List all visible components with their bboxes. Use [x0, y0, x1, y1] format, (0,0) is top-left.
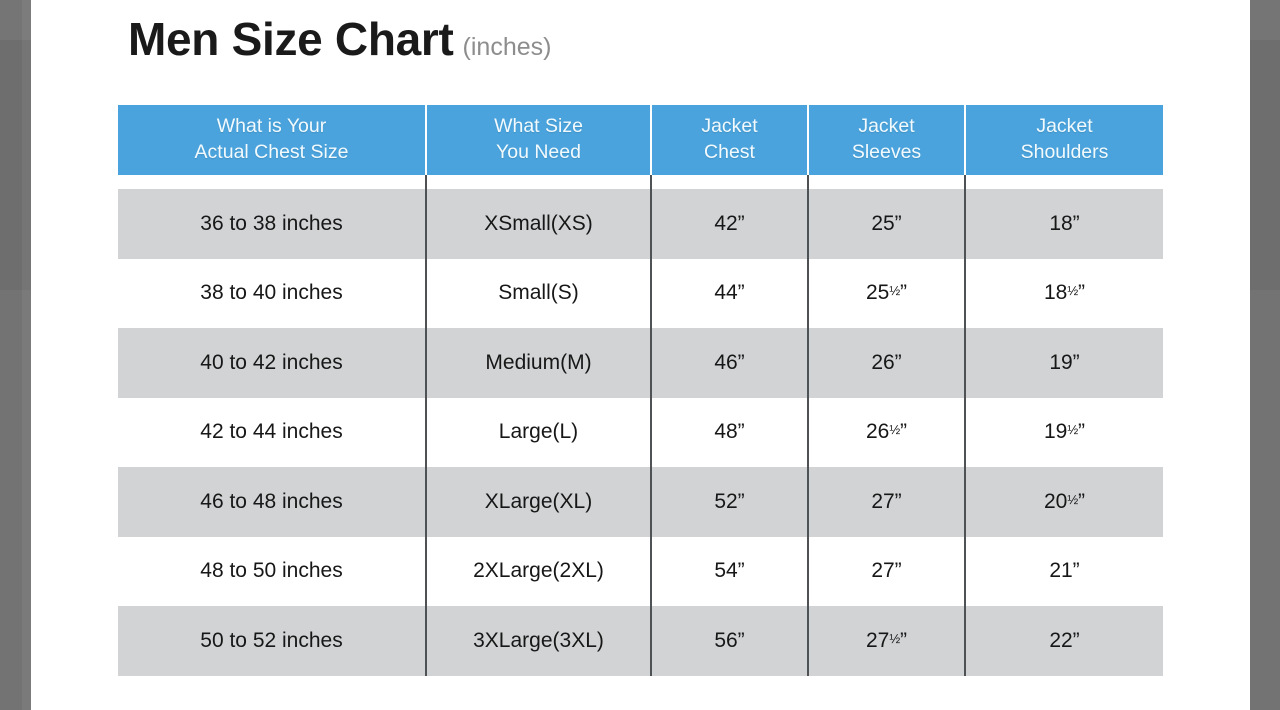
cell-jacket_sleeves: 27½” — [808, 606, 965, 676]
page-title-main: Men Size Chart — [128, 16, 454, 62]
slide-canvas: Men Size Chart (inches) What is YourActu… — [31, 0, 1250, 710]
page-title: Men Size Chart (inches) — [128, 16, 551, 62]
gap-cell — [808, 175, 965, 189]
cell-jacket_shoulders: 20½” — [965, 467, 1163, 537]
cell-chest_range: 50 to 52 inches — [118, 606, 426, 676]
cell-jacket_chest: 44” — [651, 259, 808, 329]
column-header-line1: Jacket — [656, 114, 803, 140]
cell-chest_range: 36 to 38 inches — [118, 189, 426, 259]
column-header-line2: You Need — [431, 140, 646, 166]
cell-jacket_shoulders: 19½” — [965, 398, 1163, 468]
column-header-line2: Actual Chest Size — [122, 140, 421, 166]
gap-cell — [651, 175, 808, 189]
cell-size: 2XLarge(2XL) — [426, 537, 651, 607]
table-row: 38 to 40 inchesSmall(S)44”25½”18½” — [118, 259, 1163, 329]
cell-jacket_chest: 56” — [651, 606, 808, 676]
column-header-4: JacketShoulders — [965, 105, 1163, 175]
column-header-line1: What Size — [431, 114, 646, 140]
cell-jacket_chest: 52” — [651, 467, 808, 537]
table-row: 42 to 44 inchesLarge(L)48”26½”19½” — [118, 398, 1163, 468]
letterbox-left — [0, 0, 31, 710]
table-header-gap — [118, 175, 1163, 189]
column-header-line2: Chest — [656, 140, 803, 166]
cell-chest_range: 48 to 50 inches — [118, 537, 426, 607]
column-header-line2: Sleeves — [813, 140, 960, 166]
cell-jacket_sleeves: 25” — [808, 189, 965, 259]
cell-jacket_sleeves: 27” — [808, 467, 965, 537]
cell-jacket_shoulders: 19” — [965, 328, 1163, 398]
cell-chest_range: 42 to 44 inches — [118, 398, 426, 468]
table-row: 50 to 52 inches3XLarge(3XL)56”27½”22” — [118, 606, 1163, 676]
table-body: 36 to 38 inchesXSmall(XS)42”25”18”38 to … — [118, 175, 1163, 676]
table-row: 40 to 42 inchesMedium(M)46”26”19” — [118, 328, 1163, 398]
table-header-row: What is YourActual Chest SizeWhat SizeYo… — [118, 105, 1163, 175]
table-row: 36 to 38 inchesXSmall(XS)42”25”18” — [118, 189, 1163, 259]
cell-jacket_shoulders: 22” — [965, 606, 1163, 676]
slide-viewport: Men Size Chart (inches) What is YourActu… — [0, 0, 1280, 710]
cell-jacket_chest: 46” — [651, 328, 808, 398]
column-header-1: What SizeYou Need — [426, 105, 651, 175]
cell-jacket_shoulders: 18” — [965, 189, 1163, 259]
cell-size: XSmall(XS) — [426, 189, 651, 259]
cell-jacket_chest: 48” — [651, 398, 808, 468]
cell-chest_range: 40 to 42 inches — [118, 328, 426, 398]
column-header-line1: Jacket — [813, 114, 960, 140]
gap-cell — [118, 175, 426, 189]
table-header: What is YourActual Chest SizeWhat SizeYo… — [118, 105, 1163, 175]
cell-jacket_sleeves: 25½” — [808, 259, 965, 329]
column-header-0: What is YourActual Chest Size — [118, 105, 426, 175]
column-header-2: JacketChest — [651, 105, 808, 175]
cell-jacket_chest: 42” — [651, 189, 808, 259]
column-header-line2: Shoulders — [970, 140, 1159, 166]
cell-jacket_sleeves: 26” — [808, 328, 965, 398]
column-header-line1: What is Your — [122, 114, 421, 140]
cell-size: Small(S) — [426, 259, 651, 329]
cell-size: Large(L) — [426, 398, 651, 468]
column-header-3: JacketSleeves — [808, 105, 965, 175]
cell-size: 3XLarge(3XL) — [426, 606, 651, 676]
page-title-unit: (inches) — [463, 35, 552, 60]
cell-size: Medium(M) — [426, 328, 651, 398]
cell-jacket_sleeves: 27” — [808, 537, 965, 607]
size-chart-table: What is YourActual Chest SizeWhat SizeYo… — [118, 105, 1163, 676]
cell-chest_range: 38 to 40 inches — [118, 259, 426, 329]
gap-cell — [426, 175, 651, 189]
cell-jacket_shoulders: 18½” — [965, 259, 1163, 329]
table-row: 48 to 50 inches2XLarge(2XL)54”27”21” — [118, 537, 1163, 607]
gap-cell — [965, 175, 1163, 189]
column-header-line1: Jacket — [970, 114, 1159, 140]
letterbox-right — [1250, 0, 1280, 710]
cell-jacket_chest: 54” — [651, 537, 808, 607]
cell-jacket_sleeves: 26½” — [808, 398, 965, 468]
cell-chest_range: 46 to 48 inches — [118, 467, 426, 537]
table-row: 46 to 48 inchesXLarge(XL)52”27”20½” — [118, 467, 1163, 537]
cell-size: XLarge(XL) — [426, 467, 651, 537]
cell-jacket_shoulders: 21” — [965, 537, 1163, 607]
